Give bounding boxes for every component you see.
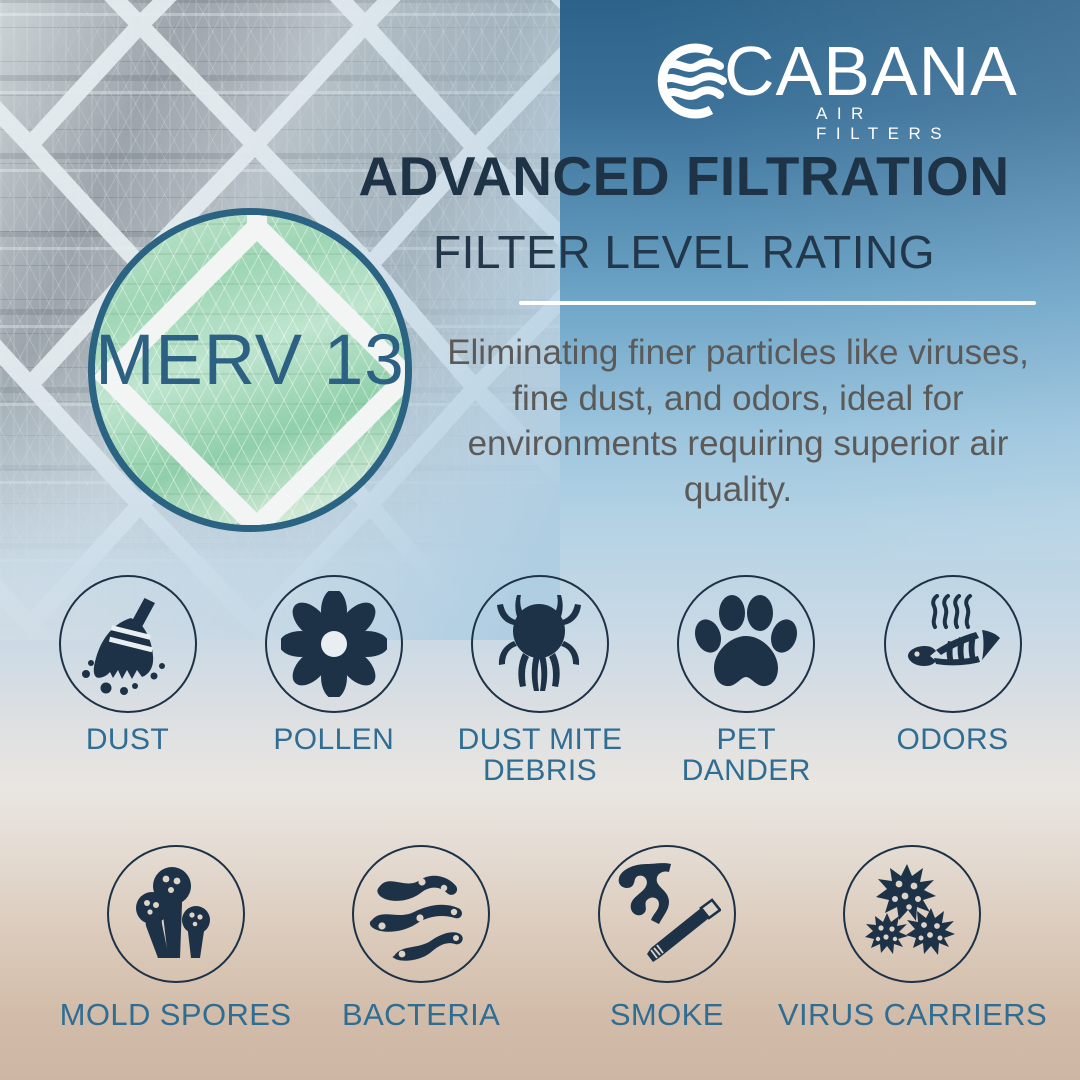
virus-cluster-icon <box>859 861 965 967</box>
icon-circle <box>884 575 1022 713</box>
particle-item-bacteria: BACTERIA <box>334 845 509 1031</box>
particle-label: BACTERIA <box>342 999 500 1031</box>
merv-rating-badge: MERV 13 <box>88 208 412 532</box>
brand-name: CABANA <box>724 36 1018 106</box>
icon-circle <box>107 845 245 983</box>
broom-dust-icon <box>76 592 180 696</box>
particle-item-pollen: POLLEN <box>246 575 421 786</box>
mold-spore-icon <box>124 862 228 966</box>
icon-circle <box>843 845 981 983</box>
particle-label: ODORS <box>896 725 1008 756</box>
cabana-wave-mark-icon <box>648 40 734 122</box>
poster-canvas: CABANA AIR FILTERS ADVANCED FILTRATION F… <box>0 0 1080 1080</box>
dust-mite-icon <box>490 591 590 697</box>
description-paragraph: Eliminating finer particles like viruses… <box>438 330 1038 512</box>
particle-row-1: DUST <box>40 575 1040 786</box>
icon-circle <box>471 575 609 713</box>
particle-label: MOLD SPORES <box>60 999 292 1031</box>
bacteria-icon <box>368 864 474 964</box>
particle-label: POLLEN <box>273 725 394 756</box>
icon-circle <box>265 575 403 713</box>
particle-item-smoke: SMOKE <box>579 845 754 1031</box>
icon-circle <box>677 575 815 713</box>
particle-item-mold-spores: MOLD SPORES <box>88 845 263 1031</box>
particle-row-2: MOLD SPORES <box>88 845 1000 1031</box>
divider-rule <box>519 301 1036 305</box>
brand-logo: CABANA AIR FILTERS <box>648 38 1020 130</box>
paw-print-icon <box>694 592 798 696</box>
brand-tagline: AIR FILTERS <box>816 104 1020 144</box>
icon-circle <box>352 845 490 983</box>
merv-rating-value: MERV 13 <box>95 325 405 396</box>
page-title: ADVANCED FILTRATION <box>330 148 1038 204</box>
particle-label: SMOKE <box>610 999 724 1031</box>
particle-item-virus-carriers: VIRUS CARRIERS <box>825 845 1000 1031</box>
particle-label: PET DANDER <box>682 725 811 786</box>
particle-label: VIRUS CARRIERS <box>778 999 1047 1031</box>
particle-item-dust-mite: DUST MITE DEBRIS <box>453 575 628 786</box>
particle-label: DUST MITE DEBRIS <box>458 725 623 786</box>
particle-item-odors: ODORS <box>865 575 1040 786</box>
particle-label: DUST <box>86 725 169 756</box>
fish-bone-odor-icon <box>900 594 1006 694</box>
cigarette-smoke-icon <box>613 862 721 966</box>
page-subtitle: FILTER LEVEL RATING <box>330 228 1038 276</box>
particle-item-pet-dander: PET DANDER <box>659 575 834 786</box>
particle-item-dust: DUST <box>40 575 215 786</box>
icon-circle <box>59 575 197 713</box>
flower-pollen-icon <box>281 591 387 697</box>
icon-circle <box>598 845 736 983</box>
